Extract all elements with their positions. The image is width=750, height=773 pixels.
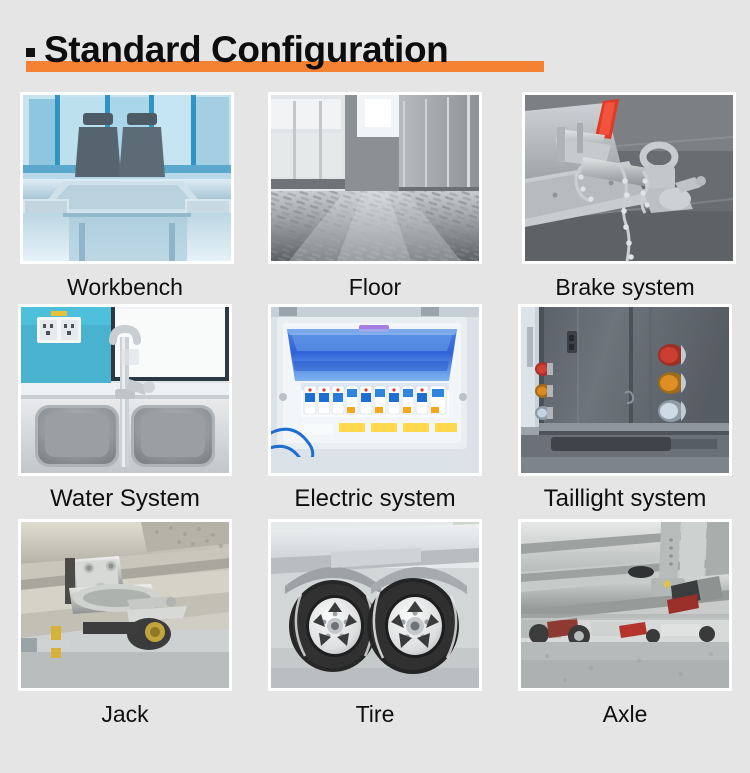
workbench-photo [23, 95, 231, 261]
gallery-item-axle[interactable]: Axle [500, 519, 750, 734]
gallery-item-label: Brake system [555, 273, 694, 301]
thumb-frame [268, 304, 482, 476]
gallery-item-electric-system[interactable]: Electric system [250, 304, 500, 519]
gallery-item-workbench[interactable]: Workbench [0, 92, 250, 304]
gallery-item-tire[interactable]: Tire [250, 519, 500, 734]
axle-photo [521, 522, 729, 688]
gallery-item-taillight-system[interactable]: Taillight system [500, 304, 750, 519]
thumb-frame [20, 92, 234, 264]
water-system-photo [21, 307, 229, 473]
tire-photo [271, 522, 479, 688]
thumb-frame [18, 304, 232, 476]
gallery-item-label: Floor [349, 273, 401, 301]
gallery-item-label: Water System [50, 485, 200, 513]
thumb-frame [18, 519, 232, 691]
gallery-item-label: Workbench [67, 273, 183, 301]
brake-system-photo [525, 95, 733, 261]
thumb-frame [268, 92, 482, 264]
gallery-item-label: Jack [101, 700, 148, 728]
gallery-item-jack[interactable]: Jack [0, 519, 250, 734]
square-bullet-icon [26, 48, 35, 57]
gallery-item-label: Electric system [294, 485, 455, 513]
gallery-item-floor[interactable]: Floor [250, 92, 500, 304]
thumb-frame [522, 92, 736, 264]
gallery-item-label: Tire [356, 700, 395, 728]
jack-photo [21, 522, 229, 688]
gallery-item-label: Axle [603, 700, 648, 728]
gallery-item-brake-system[interactable]: Brake system [500, 92, 750, 304]
floor-photo [271, 95, 479, 261]
gallery-item-label: Taillight system [544, 485, 707, 513]
title-row: Standard Configuration [26, 28, 448, 72]
configuration-gallery: Workbench [0, 92, 750, 762]
thumb-frame [518, 304, 732, 476]
taillight-system-photo [521, 307, 729, 473]
thumb-frame [518, 519, 732, 691]
page-header: Standard Configuration [26, 28, 726, 80]
gallery-item-water-system[interactable]: Water System [0, 304, 250, 519]
electric-system-photo [271, 307, 479, 473]
thumb-frame [268, 519, 482, 691]
page-title: Standard Configuration [44, 28, 448, 72]
